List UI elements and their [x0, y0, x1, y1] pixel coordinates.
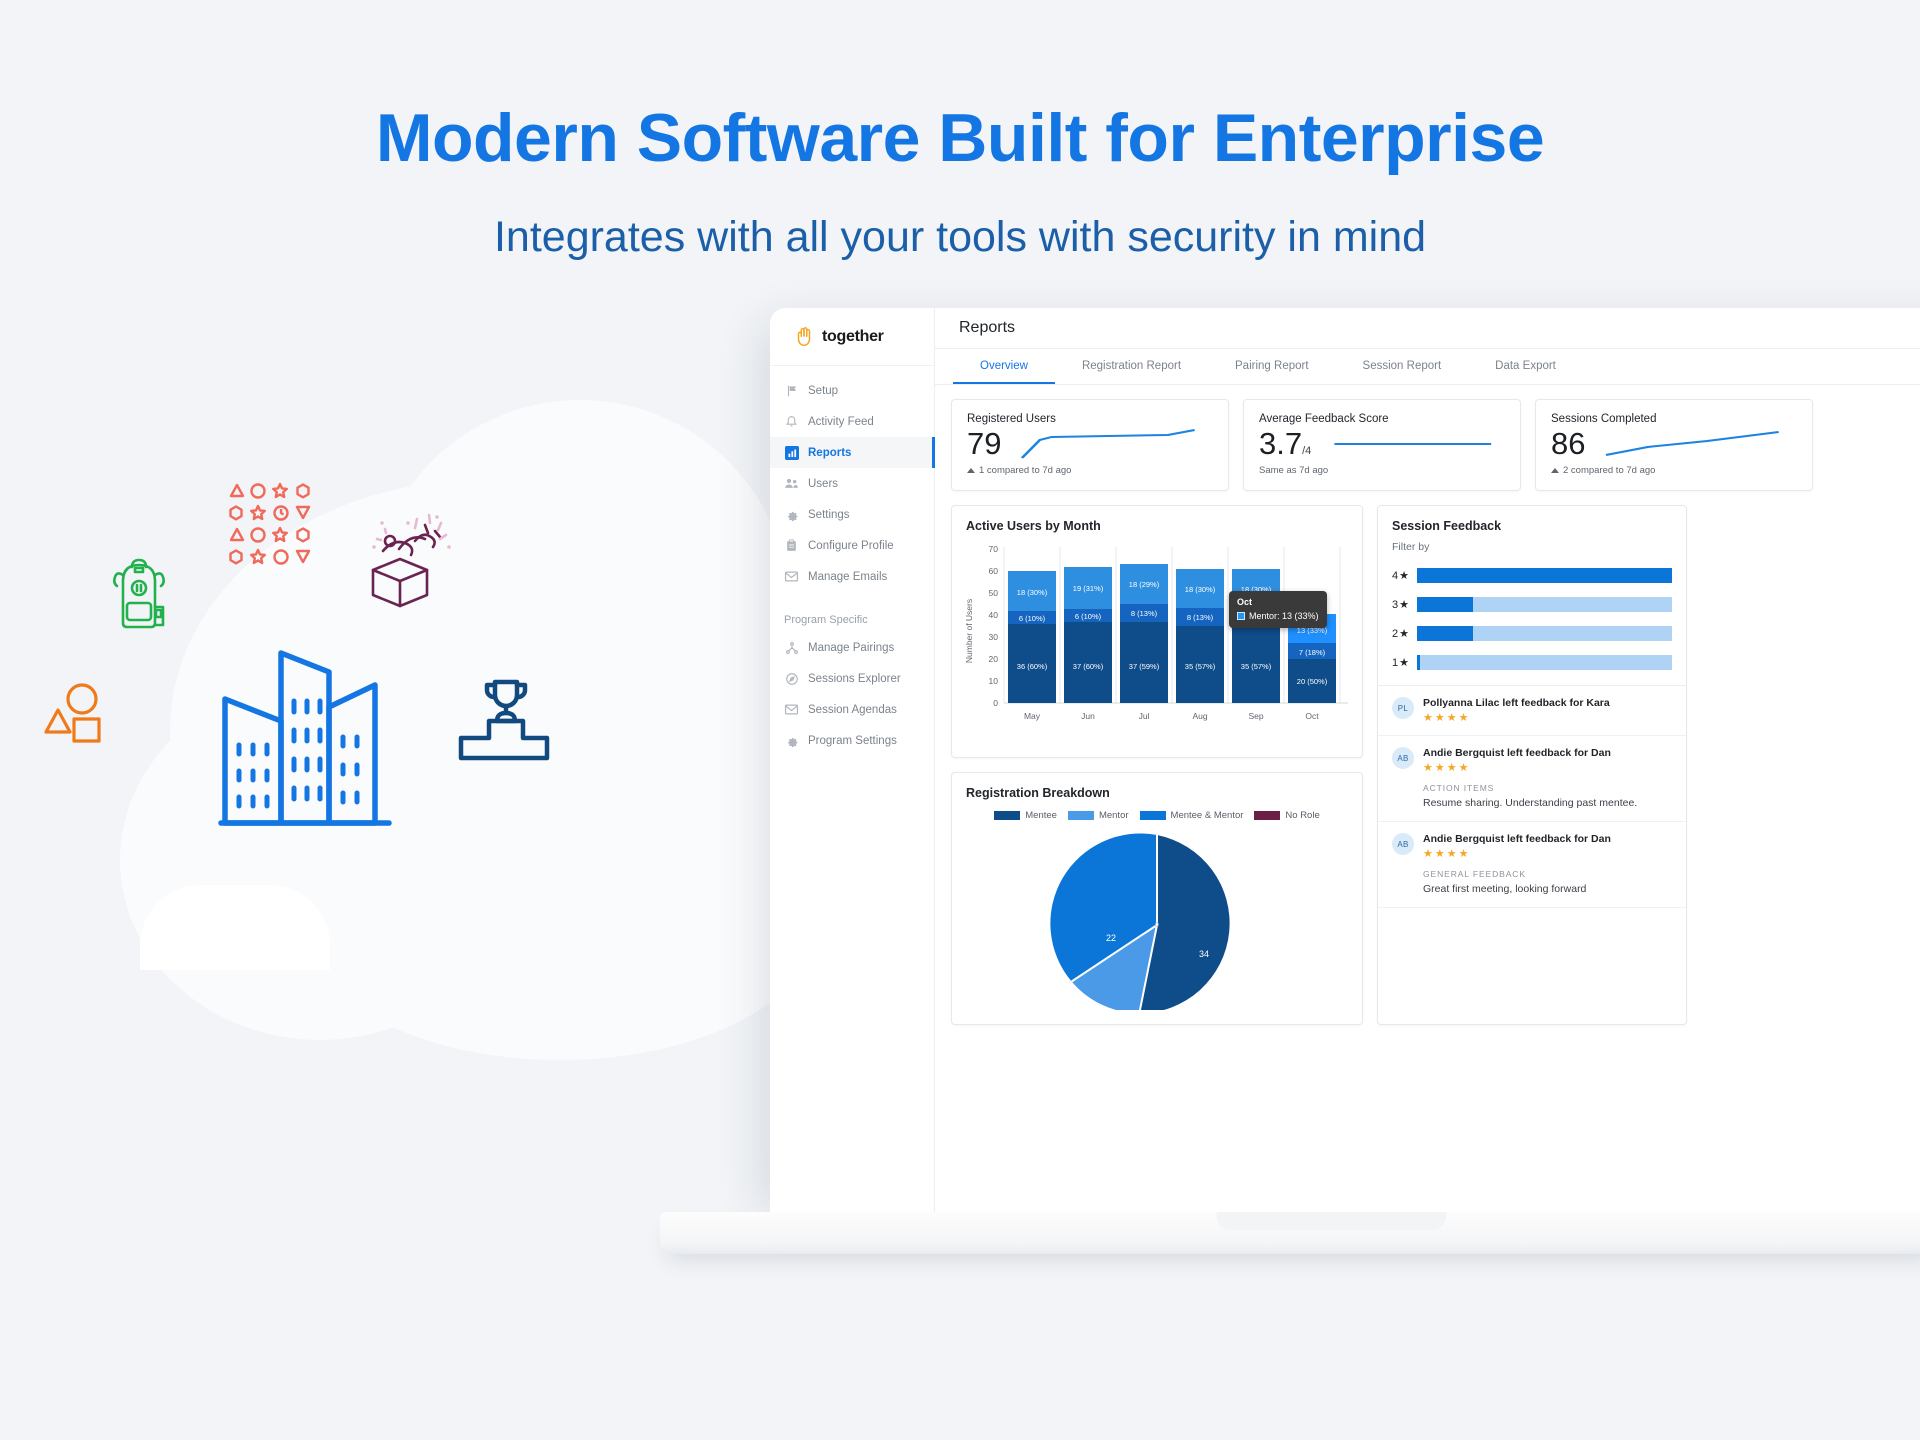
people-icon	[784, 476, 799, 491]
svg-text:35 (57%): 35 (57%)	[1185, 662, 1216, 671]
sparkline-rising	[1603, 427, 1797, 461]
star-icon: ★	[1399, 656, 1409, 669]
shapes-trio-icon	[40, 680, 110, 750]
x-tick: Jun	[1081, 711, 1095, 721]
gear-icon	[784, 507, 799, 522]
bar-jun: 37 (60%) 6 (10%) 19 (31%)	[1064, 567, 1112, 703]
rating-bar-track	[1417, 655, 1672, 670]
bar-chart-icon	[784, 445, 799, 460]
gear-icon	[784, 733, 799, 748]
main-content: Reports Overview Registration Report Pai…	[935, 308, 1920, 1230]
legend-label: No Role	[1285, 810, 1319, 821]
registration-breakdown-panel: Registration Breakdown Mentee Mentor	[951, 772, 1363, 1025]
svg-text:0: 0	[993, 698, 998, 708]
triangle-up-icon	[967, 468, 975, 473]
rating-row[interactable]: 1★	[1392, 648, 1672, 677]
laptop-device: together Setup Activity Feed	[660, 300, 1920, 1090]
svg-text:18 (30%): 18 (30%)	[1185, 585, 1216, 594]
star-icon: ★	[1399, 598, 1409, 611]
sidebar-item-session-agendas[interactable]: Session Agendas	[770, 694, 934, 725]
flag-icon	[784, 383, 799, 398]
sidebar-item-label: Reports	[808, 447, 851, 459]
shapes-grid-icon	[225, 480, 315, 570]
svg-text:8 (13%): 8 (13%)	[1131, 609, 1158, 618]
star-rating: ★★★★	[1423, 847, 1672, 860]
y-axis-label: Number of Users	[964, 599, 974, 663]
svg-text:37 (59%): 37 (59%)	[1129, 662, 1160, 671]
trophy-podium-icon	[455, 670, 565, 770]
hero-section: Modern Software Built for Enterprise Int…	[0, 0, 1920, 259]
feedback-item-title: Andie Bergquist left feedback for Dan	[1423, 747, 1672, 759]
sidebar-section-label: Program Specific	[770, 592, 934, 632]
clipboard-icon	[784, 538, 799, 553]
svg-text:8 (13%): 8 (13%)	[1187, 613, 1214, 622]
legend-item-mentee[interactable]: Mentee	[994, 810, 1057, 821]
envelope-icon	[784, 569, 799, 584]
sidebar: together Setup Activity Feed	[770, 308, 935, 1230]
tab-overview[interactable]: Overview	[953, 349, 1055, 384]
feedback-item-title: Andie Bergquist left feedback for Dan	[1423, 833, 1672, 845]
feedback-list: PL Pollyanna Lilac left feedback for Kar…	[1378, 685, 1686, 908]
legend-item-mentee-and-mentor[interactable]: Mentee & Mentor	[1140, 810, 1244, 821]
chart-tooltip: Oct Mentor: 13 (33%)	[1229, 591, 1327, 628]
bar-aug: 35 (57%) 8 (13%) 18 (30%)	[1176, 569, 1224, 703]
stat-label: Average Feedback Score	[1259, 413, 1505, 425]
star-icon: ★	[1399, 569, 1409, 582]
stat-value: 3.7/4	[1259, 427, 1311, 461]
stat-card-average-feedback-score: Average Feedback Score 3.7/4 Same	[1243, 399, 1521, 491]
feedback-section-label: ACTION ITEMS	[1423, 783, 1672, 793]
sidebar-item-label: Session Agendas	[808, 704, 897, 716]
sidebar-item-label: Manage Pairings	[808, 642, 894, 654]
svg-text:40: 40	[989, 610, 999, 620]
svg-text:18 (29%): 18 (29%)	[1129, 580, 1160, 589]
tab-session-report[interactable]: Session Report	[1336, 349, 1469, 384]
legend-swatch	[1068, 811, 1094, 820]
svg-text:36 (60%): 36 (60%)	[1017, 662, 1048, 671]
triangle-up-icon	[1551, 468, 1559, 473]
compass-icon	[784, 671, 799, 686]
pie-title: Registration Breakdown	[952, 773, 1362, 808]
bar-may: 36 (60%) 6 (10%) 18 (30%)	[1008, 571, 1056, 703]
legend-item-no-role[interactable]: No Role	[1254, 810, 1319, 821]
legend-label: Mentee	[1025, 810, 1057, 821]
open-box-confetti-icon	[355, 505, 465, 615]
tab-bar: Overview Registration Report Pairing Rep…	[935, 349, 1920, 385]
avatar: AB	[1392, 833, 1414, 855]
bar-sep: 35 (57%) 8 (13%) 18 (30%)	[1232, 569, 1280, 703]
svg-text:35 (57%): 35 (57%)	[1241, 662, 1272, 671]
stat-denominator: /4	[1302, 445, 1311, 457]
svg-text:20 (50%): 20 (50%)	[1297, 677, 1328, 686]
stat-delta-text: 1 compared to 7d ago	[979, 465, 1071, 476]
bar-jul: 37 (59%) 8 (13%) 18 (29%)	[1120, 564, 1168, 703]
svg-text:50: 50	[989, 588, 999, 598]
stat-label: Registered Users	[967, 413, 1213, 425]
rating-row[interactable]: 2★	[1392, 619, 1672, 648]
x-tick: Jul	[1139, 711, 1150, 721]
stat-delta: 1 compared to 7d ago	[967, 465, 1213, 476]
small-cloud-icon	[140, 885, 330, 970]
sidebar-item-label: Manage Emails	[808, 571, 887, 583]
hierarchy-icon	[784, 640, 799, 655]
list-item[interactable]: PL Pollyanna Lilac left feedback for Kar…	[1378, 686, 1686, 736]
stat-card-registered-users: Registered Users 79 1 compared to 7d ago	[951, 399, 1229, 491]
backpack-icon	[105, 555, 175, 635]
stat-value: 79	[967, 427, 1001, 461]
tab-pairing-report[interactable]: Pairing Report	[1208, 349, 1336, 384]
svg-text:19 (31%): 19 (31%)	[1073, 584, 1104, 593]
avatar: PL	[1392, 697, 1414, 719]
sidebar-item-label: Configure Profile	[808, 540, 894, 552]
together-app: together Setup Activity Feed	[770, 308, 1920, 1230]
list-item[interactable]: AB Andie Bergquist left feedback for Dan…	[1378, 736, 1686, 822]
x-tick: Sep	[1248, 711, 1263, 721]
pie-legend: Mentee Mentor Mentee & Mentor	[952, 810, 1362, 821]
x-tick: May	[1024, 711, 1041, 721]
pie-label-no-role: 0	[1155, 922, 1159, 929]
tooltip-swatch	[1237, 612, 1245, 620]
rating-label: 2★	[1392, 627, 1410, 640]
legend-label: Mentor	[1099, 810, 1129, 821]
sidebar-item-settings[interactable]: Settings	[770, 499, 934, 530]
sidebar-item-label: Program Settings	[808, 735, 897, 747]
stat-delta: 2 compared to 7d ago	[1551, 465, 1797, 476]
registration-pie-chart: 34 22 0	[952, 825, 1362, 1010]
svg-text:30: 30	[989, 632, 999, 642]
star-icon: ★	[1399, 627, 1409, 640]
sidebar-item-label: Users	[808, 478, 838, 490]
svg-text:37 (60%): 37 (60%)	[1073, 662, 1104, 671]
bell-icon	[784, 414, 799, 429]
reports-page-title: Reports	[959, 319, 1015, 337]
legend-label: Mentee & Mentor	[1171, 810, 1244, 821]
envelope-icon	[784, 702, 799, 717]
sidebar-item-setup[interactable]: Setup	[770, 375, 934, 406]
rating-label: 3★	[1392, 598, 1410, 611]
feedback-title: Session Feedback	[1378, 506, 1686, 541]
rating-bar-fill	[1417, 568, 1672, 583]
stat-delta-text: 2 compared to 7d ago	[1563, 465, 1655, 476]
rating-row[interactable]: 3★	[1392, 590, 1672, 619]
stat-delta-text: Same as 7d ago	[1259, 465, 1328, 476]
sidebar-item-label: Setup	[808, 385, 838, 397]
pie-label-mentee-and-mentor: 22	[1106, 933, 1116, 943]
svg-text:6 (10%): 6 (10%)	[1019, 614, 1046, 623]
feedback-filter-label: Filter by	[1378, 541, 1686, 561]
svg-text:18 (30%): 18 (30%)	[1017, 588, 1048, 597]
svg-text:10: 10	[989, 676, 999, 686]
stat-value: 86	[1551, 427, 1585, 461]
page-title: Modern Software Built for Enterprise	[0, 104, 1920, 172]
feedback-section-label: GENERAL FEEDBACK	[1423, 869, 1672, 879]
rating-row[interactable]: 4★	[1392, 561, 1672, 590]
rating-bar-track	[1417, 568, 1672, 583]
rating-bar-track	[1417, 626, 1672, 641]
overview-content: Registered Users 79 1 compared to 7d ago	[935, 385, 1920, 1230]
charts-row: Active Users by Month 70 60 50 40 30	[951, 505, 1920, 1025]
legend-swatch	[994, 811, 1020, 820]
sidebar-item-program-settings[interactable]: Program Settings	[770, 725, 934, 756]
sidebar-item-activity-feed[interactable]: Activity Feed	[770, 406, 934, 437]
stat-card-sessions-completed: Sessions Completed 86 2 compared to 7d a…	[1535, 399, 1813, 491]
star-rating: ★★★★	[1423, 761, 1672, 774]
device-screen: together Setup Activity Feed	[770, 308, 1920, 1230]
laptop-notch	[1217, 1212, 1447, 1230]
stat-number: 3.7	[1259, 426, 1302, 461]
svg-text:70: 70	[989, 544, 999, 554]
feedback-text: Great first meeting, looking forward	[1423, 882, 1672, 896]
rating-bar-fill	[1417, 655, 1420, 670]
active-users-chart-panel: Active Users by Month 70 60 50 40 30	[951, 505, 1363, 758]
stat-label: Sessions Completed	[1551, 413, 1797, 425]
rating-label: 4★	[1392, 569, 1410, 582]
feedback-rating-bars: 4★ 3★ 2★	[1378, 561, 1686, 677]
tab-registration-report[interactable]: Registration Report	[1055, 349, 1208, 384]
sidebar-nav: Setup Activity Feed Reports	[770, 366, 934, 756]
tab-data-export[interactable]: Data Export	[1468, 349, 1583, 384]
rating-bar-fill	[1417, 626, 1473, 641]
tooltip-row: Mentor: 13 (33%)	[1237, 610, 1319, 622]
waving-hand-icon	[793, 326, 815, 348]
legend-swatch	[1254, 811, 1280, 820]
svg-text:20: 20	[989, 654, 999, 664]
sidebar-item-users[interactable]: Users	[770, 468, 934, 499]
list-item[interactable]: AB Andie Bergquist left feedback for Dan…	[1378, 822, 1686, 908]
sidebar-item-manage-emails[interactable]: Manage Emails	[770, 561, 934, 592]
svg-text:7 (18%): 7 (18%)	[1299, 648, 1326, 657]
buildings-icon	[215, 645, 395, 835]
brand-name: together	[822, 328, 884, 346]
star-rating: ★★★★	[1423, 711, 1672, 724]
chart-title: Active Users by Month	[952, 506, 1362, 541]
sparkline-rising	[1019, 427, 1213, 461]
sidebar-item-configure-profile[interactable]: Configure Profile	[770, 530, 934, 561]
stat-delta: Same as 7d ago	[1259, 465, 1505, 476]
svg-text:6 (10%): 6 (10%)	[1075, 612, 1102, 621]
feedback-item-title: Pollyanna Lilac left feedback for Kara	[1423, 697, 1672, 709]
rating-label: 1★	[1392, 656, 1410, 669]
svg-text:60: 60	[989, 566, 999, 576]
rating-bar-track	[1417, 597, 1672, 612]
rating-bar-fill	[1417, 597, 1473, 612]
avatar: AB	[1392, 747, 1414, 769]
brand[interactable]: together	[770, 308, 934, 366]
session-feedback-panel: Session Feedback Filter by 4★ 3★	[1377, 505, 1687, 1025]
x-tick: Aug	[1192, 711, 1207, 721]
sidebar-item-label: Settings	[808, 509, 850, 521]
sparkline-flat	[1329, 427, 1505, 461]
x-tick: Oct	[1305, 711, 1319, 721]
sidebar-item-manage-pairings[interactable]: Manage Pairings	[770, 632, 934, 663]
active-users-bar-chart: 70 60 50 40 30 20 10 0	[952, 541, 1362, 751]
legend-item-mentor[interactable]: Mentor	[1068, 810, 1129, 821]
sidebar-item-reports[interactable]: Reports	[770, 437, 934, 468]
pie-label-mentee: 34	[1199, 949, 1209, 959]
stat-card-row: Registered Users 79 1 compared to 7d ago	[951, 399, 1920, 491]
sidebar-item-label: Activity Feed	[808, 416, 874, 428]
sidebar-item-sessions-explorer[interactable]: Sessions Explorer	[770, 663, 934, 694]
page-subtitle: Integrates with all your tools with secu…	[0, 216, 1920, 259]
feedback-text: Resume sharing. Understanding past mente…	[1423, 796, 1672, 810]
tooltip-title: Oct	[1237, 596, 1319, 608]
legend-swatch	[1140, 811, 1166, 820]
topbar: Reports	[935, 308, 1920, 349]
sidebar-item-label: Sessions Explorer	[808, 673, 901, 685]
tooltip-series: Mentor: 13 (33%)	[1249, 610, 1319, 622]
